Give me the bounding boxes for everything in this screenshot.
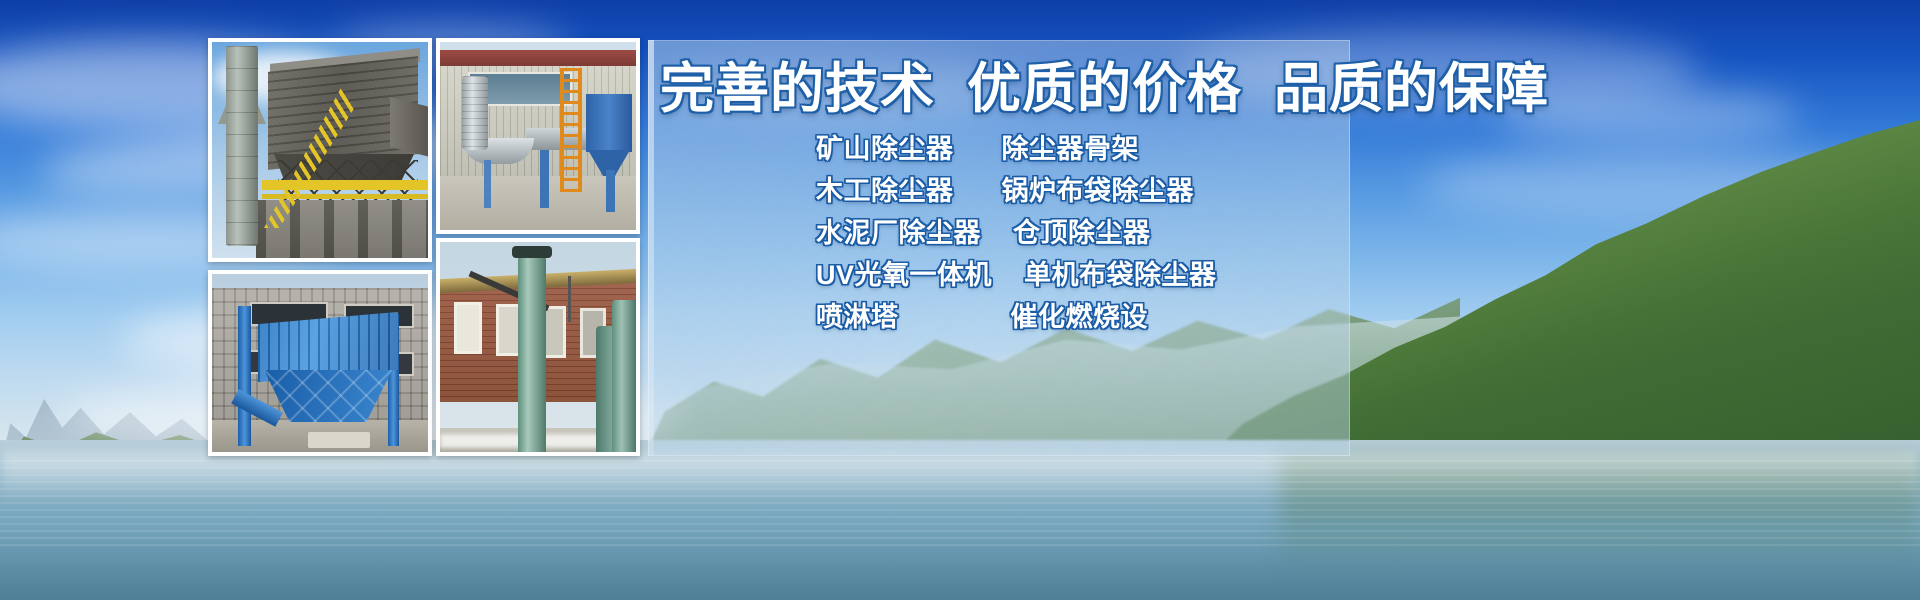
chimney-stack (226, 46, 258, 246)
product-line: 水泥厂除尘器 仓顶除尘器 (816, 212, 1336, 254)
blue-support-column (238, 306, 251, 446)
photo-workshop-duct[interactable] (436, 38, 640, 234)
building-roof (440, 50, 636, 66)
green-exhaust-stack (518, 252, 546, 456)
panel-left-accent (648, 40, 654, 456)
vertical-duct (462, 76, 488, 150)
photo-collage (208, 38, 644, 456)
headline-slogan: 完善的技术 优质的价格 品质的保障 (660, 58, 1350, 122)
product-line: UV光氧一体机 单机布袋除尘器 (816, 254, 1336, 296)
photo-brick-building-stacks[interactable] (436, 238, 640, 456)
stack-cap (512, 246, 552, 258)
blue-hopper (586, 94, 632, 152)
green-exhaust-stack (612, 300, 636, 456)
blue-support-column (606, 170, 615, 212)
water-ripples (0, 460, 1920, 550)
promotional-banner: 完善的技术 优质的价格 品质的保障 矿山除尘器 除尘器骨架 木工除尘器 锅炉布袋… (0, 0, 1920, 600)
collector-duct (390, 97, 430, 157)
blue-support-post (484, 160, 491, 208)
product-line: 喷淋塔 催化燃烧设 (816, 296, 1336, 338)
building-window (454, 302, 482, 354)
product-line: 木工除尘器 锅炉布袋除尘器 (816, 170, 1336, 212)
orange-ladder (560, 68, 582, 192)
product-list: 矿山除尘器 除尘器骨架 木工除尘器 锅炉布袋除尘器 水泥厂除尘器 仓顶除尘器 U… (816, 128, 1336, 338)
photo-blue-bag-filter[interactable] (208, 270, 432, 456)
product-line: 矿山除尘器 除尘器骨架 (816, 128, 1336, 170)
concrete-pad (308, 432, 370, 448)
photo-grey-baghouse[interactable] (208, 38, 432, 262)
antenna-mast (568, 276, 571, 322)
blue-support-column (540, 150, 549, 208)
